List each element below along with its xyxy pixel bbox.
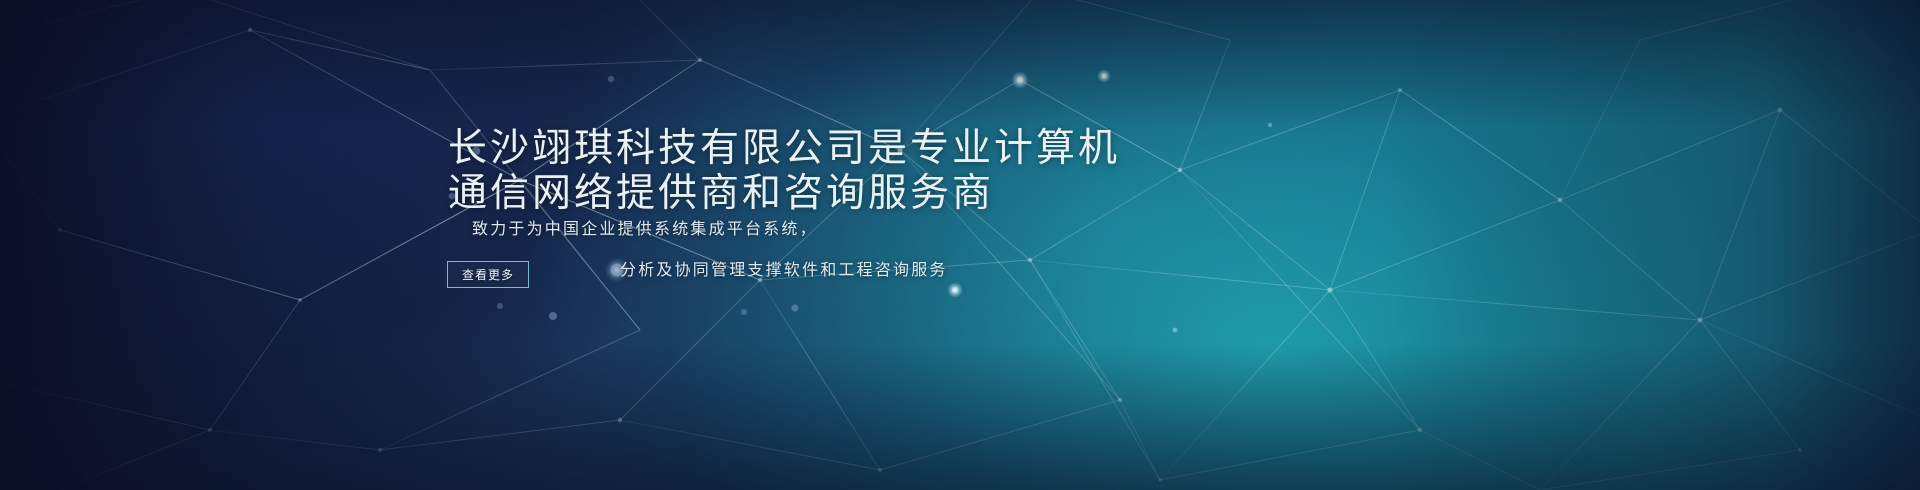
hero-subtitle-line-1: 致力于为中国企业提供系统集成平台系统， [472, 215, 818, 239]
hero-banner: 长沙翊琪科技有限公司是专业计算机 通信网络提供商和咨询服务商 致力于为中国企业提… [0, 0, 1920, 490]
view-more-button[interactable]: 查看更多 [447, 261, 529, 288]
headline-line-2: 通信网络提供商和咨询服务商 [448, 171, 1120, 216]
hero-content: 长沙翊琪科技有限公司是专业计算机 通信网络提供商和咨询服务商 致力于为中国企业提… [0, 0, 1920, 490]
hero-headline: 长沙翊琪科技有限公司是专业计算机 通信网络提供商和咨询服务商 [448, 126, 1120, 216]
headline-line-1: 长沙翊琪科技有限公司是专业计算机 [448, 126, 1120, 171]
hero-subtitle-line-2: 分析及协同管理支撑软件和工程咨询服务 [620, 256, 948, 280]
